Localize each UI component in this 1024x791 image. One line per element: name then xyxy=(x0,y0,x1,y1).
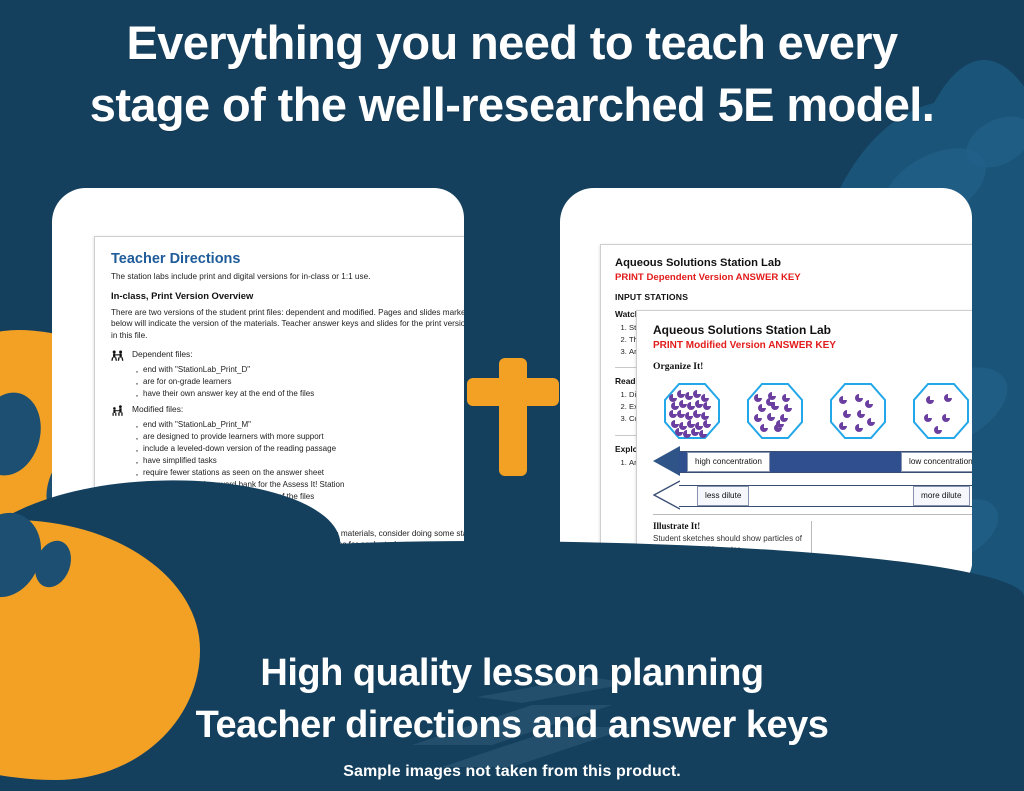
dependent-files-label: Dependent files: xyxy=(132,349,193,359)
decorative-navy-dot xyxy=(0,503,53,608)
list-item: include a leveled-down version of the re… xyxy=(132,443,464,455)
plus-icon xyxy=(467,358,559,476)
less-dilute-label: less dilute xyxy=(697,486,749,506)
document-intro: The station labs include print and digit… xyxy=(111,271,464,283)
footer-line-1: High quality lesson planning xyxy=(0,647,1024,699)
illustrate-it-heading: Illustrate It! xyxy=(653,521,803,531)
concentration-arrow: high concentration low concentration xyxy=(653,446,972,476)
station-setup-text: If your students are not able to move ar… xyxy=(111,528,464,551)
list-item: are designed to provide learners with mo… xyxy=(132,431,464,443)
dependent-files-list: end with "StationLab_Print_D" are for on… xyxy=(132,364,464,400)
list-item: have simplified tasks xyxy=(132,455,464,467)
list-item: provide a vocabulary word bank for the A… xyxy=(132,479,464,491)
headline-line-1: Everything you need to teach every xyxy=(126,16,897,69)
station-setup-heading: Station Set Up xyxy=(111,511,464,522)
modified-answer-key-document[interactable]: Aqueous Solutions Station Lab PRINT Modi… xyxy=(636,310,972,588)
modified-files-label: Modified files: xyxy=(132,404,183,414)
list-item: have their own answer key at the end of … xyxy=(132,491,464,503)
footer-disclaimer: Sample images not taken from this produc… xyxy=(0,763,1024,781)
arrow-head-left-outline-icon xyxy=(653,480,680,510)
list-item: end with "StationLab_Print_D" xyxy=(132,364,464,376)
more-dilute-label: more dilute xyxy=(913,486,970,506)
slide-canvas: Everything you need to teach every stage… xyxy=(0,0,1024,791)
headline-line-2: stage of the well-researched 5E model. xyxy=(0,74,1024,136)
dependent-files-list-wrap: end with "StationLab_Print_D" are for on… xyxy=(132,364,464,400)
left-preview-card[interactable]: Teacher Directions The station labs incl… xyxy=(52,188,464,588)
list-item: end with "StationLab_Print_M" xyxy=(132,419,464,431)
beaker-diagram-row xyxy=(653,380,972,442)
answer-key-title: Aqueous Solutions Station Lab xyxy=(615,257,972,269)
illustrate-it-section: Illustrate It! Student sketches should s… xyxy=(653,514,972,555)
low-concentration-label: low concentration xyxy=(901,452,972,472)
illustrate-it-cell: Illustrate It! Student sketches should s… xyxy=(653,521,812,555)
plus-horizontal-bar xyxy=(467,378,559,406)
footer-line-2: Teacher directions and answer keys xyxy=(0,699,1024,751)
right-preview-card[interactable]: Aqueous Solutions Station Lab PRINT Depe… xyxy=(560,188,972,588)
document-subheading: In-class, Print Version Overview xyxy=(111,290,464,301)
dependent-files-row: Dependent files: xyxy=(111,349,464,362)
teacher-directions-document[interactable]: Teacher Directions The station labs incl… xyxy=(94,236,464,588)
document-title: Teacher Directions xyxy=(111,251,464,267)
modified-key-title: Aqueous Solutions Station Lab xyxy=(653,323,972,337)
list-item: are for on-grade learners xyxy=(132,376,464,388)
modified-key-version: PRINT Modified Version ANSWER KEY xyxy=(653,340,972,351)
plus-vertical-bar xyxy=(499,358,527,476)
beaker-4-icon xyxy=(910,380,972,442)
dilution-arrow: less dilute more dilute xyxy=(653,480,972,510)
high-concentration-label: high concentration xyxy=(687,452,770,472)
footer: High quality lesson planning Teacher dir… xyxy=(0,647,1024,781)
modified-files-row: Modified files: xyxy=(111,404,464,417)
beaker-2-icon xyxy=(744,380,806,442)
modified-files-list-wrap: end with "StationLab_Print_M" are design… xyxy=(132,419,464,503)
decorative-navy-dot xyxy=(0,386,49,483)
beaker-1-icon xyxy=(661,380,723,442)
illustrate-it-text: Student sketches should show particles o… xyxy=(653,533,803,555)
input-stations-heading: INPUT STATIONS xyxy=(615,292,972,302)
modified-files-list: end with "StationLab_Print_M" are design… xyxy=(132,419,464,503)
answer-key-version: PRINT Dependent Version ANSWER KEY xyxy=(615,272,972,283)
list-item: have their own answer key at the end of … xyxy=(132,388,464,400)
two-people-icon xyxy=(111,349,125,362)
beaker-3-icon xyxy=(827,380,889,442)
document-paragraph: There are two versions of the student pr… xyxy=(111,307,464,342)
headline: Everything you need to teach every stage… xyxy=(0,12,1024,136)
organize-it-heading: Organize It! xyxy=(653,361,972,372)
person-and-adult-icon xyxy=(111,404,125,417)
arrow-head-left-icon xyxy=(653,446,680,476)
list-item: require fewer stations as seen on the an… xyxy=(132,467,464,479)
